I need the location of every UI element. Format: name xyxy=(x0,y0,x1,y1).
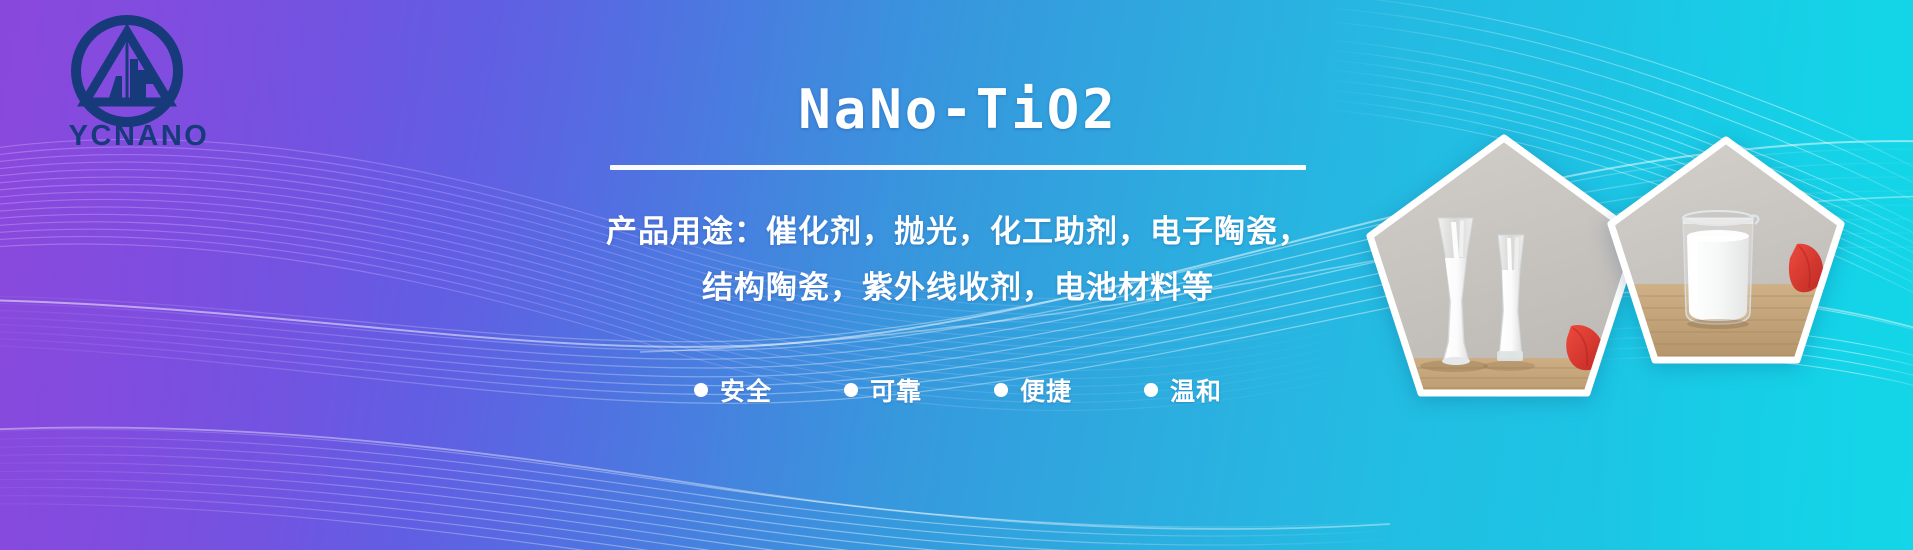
pentagon-photo-beaker xyxy=(1601,132,1851,382)
product-photo-group xyxy=(1353,0,1913,550)
bullet-dot-icon xyxy=(994,383,1008,397)
headline-block: NaNo-TiO2 产品用途：催化剂，抛光，化工助剂，电子陶瓷， 结构陶瓷，紫外… xyxy=(488,0,1428,550)
brand-wordmark: YCNANO xyxy=(44,120,234,153)
feature-label: 可靠 xyxy=(870,372,922,408)
feature-label: 安全 xyxy=(720,372,772,408)
ycnano-triangle-emblem-icon xyxy=(68,12,186,130)
feature-item-mild: 温和 xyxy=(1144,372,1222,408)
bullet-dot-icon xyxy=(1144,383,1158,397)
brand-logo[interactable]: YCNANO xyxy=(44,12,234,152)
feature-label: 便捷 xyxy=(1020,372,1072,408)
bullet-dot-icon xyxy=(694,383,708,397)
feature-list: 安全 可靠 便捷 温和 xyxy=(528,372,1388,408)
bullet-dot-icon xyxy=(844,383,858,397)
usage-description: 产品用途：催化剂，抛光，化工助剂，电子陶瓷， 结构陶瓷，紫外线收剂，电池材料等 xyxy=(488,204,1428,316)
product-banner: YCNANO NaNo-TiO2 产品用途：催化剂，抛光，化工助剂，电子陶瓷， … xyxy=(0,0,1913,550)
title-divider xyxy=(610,165,1306,170)
feature-item-convenient: 便捷 xyxy=(994,372,1072,408)
page-title: NaNo-TiO2 xyxy=(488,78,1428,141)
usage-line-2: 结构陶瓷，紫外线收剂，电池材料等 xyxy=(488,260,1428,316)
usage-line-1: 产品用途：催化剂，抛光，化工助剂，电子陶瓷， xyxy=(488,204,1428,260)
feature-label: 温和 xyxy=(1170,372,1222,408)
feature-item-safe: 安全 xyxy=(694,372,772,408)
feature-item-reliable: 可靠 xyxy=(844,372,922,408)
